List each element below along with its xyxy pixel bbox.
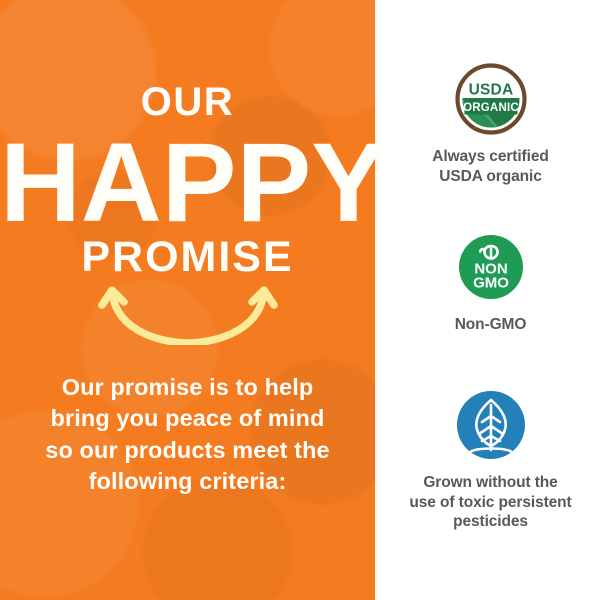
usda-organic-seal-icon: USDA ORGANIC (454, 62, 528, 136)
blue-leaf-no-pesticides-icon (455, 389, 527, 461)
claim-badge: NON GMO (381, 228, 600, 306)
claim-label: Grown without the use of toxic persisten… (381, 473, 600, 532)
usda-top-text: USDA (468, 82, 513, 99)
claim-non-gmo: NON GMO Non-GMO (381, 228, 600, 335)
claims-panel: USDA ORGANIC Always certified USDA organ… (381, 0, 600, 600)
smile-arc-with-arrows-icon (98, 283, 278, 345)
claim-label-line-2: use of toxic persistent (381, 493, 600, 513)
promise-line-1: Our promise is to help (18, 372, 357, 403)
claim-label: Always certified USDA organic (381, 147, 600, 186)
claim-label-line-2: USDA organic (381, 167, 600, 187)
claim-label-line-3: pesticides (381, 512, 600, 532)
smile-arc-wrap (0, 283, 375, 350)
non-gmo-leaf-icon: NON GMO (457, 233, 525, 301)
claim-label-line-1: Grown without the (381, 473, 600, 493)
headline-happy: HAPPY (0, 126, 375, 240)
promise-line-2: bring you peace of mind (18, 403, 357, 434)
happy-promise-infographic: OUR HAPPY PROMISE Our promise is to help… (0, 0, 600, 600)
promise-line-4: following criteria: (18, 466, 357, 497)
claim-label-line-1: Always certified (381, 147, 600, 167)
headline-our: OUR (0, 82, 375, 122)
claim-usda-organic: USDA ORGANIC Always certified USDA organ… (381, 60, 600, 186)
headline-block: OUR HAPPY PROMISE (0, 0, 375, 279)
non-gmo-bottom-text: GMO (473, 275, 509, 292)
claim-badge: USDA ORGANIC (381, 60, 600, 138)
claim-no-pesticides: Grown without the use of toxic persisten… (381, 386, 600, 532)
claim-label: Non-GMO (381, 315, 600, 335)
usda-bottom-text: ORGANIC (463, 102, 519, 114)
promise-body-text: Our promise is to help bring you peace o… (18, 372, 357, 497)
promise-line-3: so our products meet the (18, 435, 357, 466)
claim-badge (381, 386, 600, 464)
claim-label-line-1: Non-GMO (381, 315, 600, 335)
